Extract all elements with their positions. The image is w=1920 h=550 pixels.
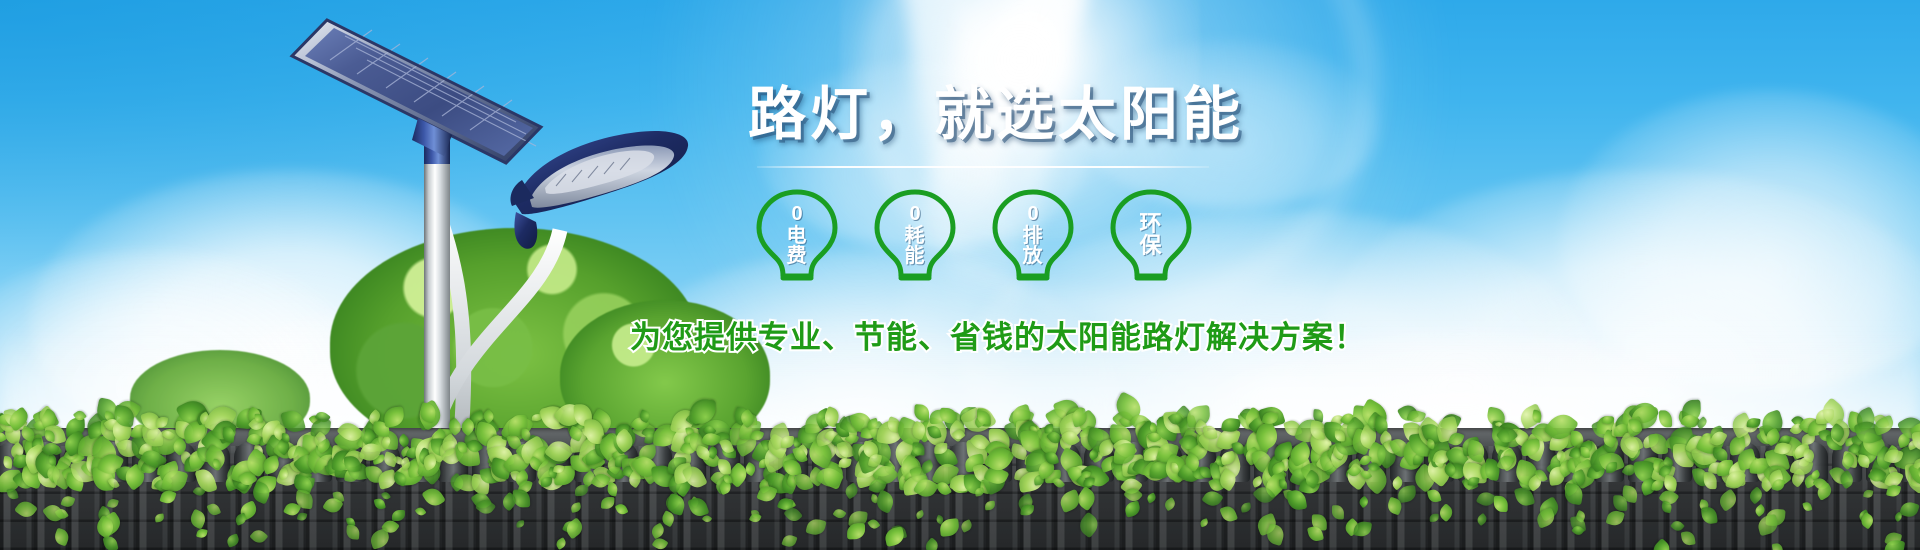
wall-tile-tube	[438, 442, 468, 482]
feature-badge: 0耗能	[866, 188, 964, 286]
badge-zero-value: 0	[1027, 204, 1038, 226]
wall-tile-tube	[1900, 442, 1920, 482]
feature-badge-row: 0电费0耗能0排放环保	[748, 188, 1200, 286]
wall-tile-tube	[1492, 442, 1522, 482]
wall-tile-tube	[0, 442, 26, 482]
wall-tile-tube	[948, 442, 978, 482]
wall-tile-tube	[1594, 442, 1624, 482]
wall-tile-tube	[336, 442, 366, 482]
badge-text-group: 0排放	[1023, 204, 1044, 271]
badge-label: 排	[1023, 226, 1044, 246]
wall-tile-tube	[642, 442, 672, 482]
wall-tile-tube	[846, 442, 876, 482]
wall-tile-tube	[1084, 442, 1114, 482]
wall-tile-tube	[778, 442, 808, 482]
wall-tile-tube	[1016, 442, 1046, 482]
wall-tile-tube	[1696, 442, 1726, 482]
wall-tile-tube	[98, 442, 128, 482]
wall-tile-tube	[30, 442, 60, 482]
solar-panel	[288, 18, 545, 163]
wall-tile-tube	[1390, 442, 1420, 482]
wall-tile-tube	[302, 442, 332, 482]
wall-tile-tube	[404, 442, 434, 482]
wall-tile-tube	[1152, 442, 1182, 482]
wall-tile-tube	[1322, 442, 1352, 482]
badge-text-group: 0耗能	[905, 204, 926, 271]
wall-tile-tube	[608, 442, 638, 482]
badge-label: 保	[1139, 235, 1162, 257]
garden-wall	[0, 428, 1920, 550]
wall-tile-tube	[506, 442, 536, 482]
subtitle-text: 为您提供专业、节能、省钱的太阳能路灯解决方案！	[630, 312, 1336, 357]
feature-badge: 环保	[1102, 188, 1200, 286]
wall-tile-tube	[132, 442, 162, 482]
lamp-head-joint	[514, 212, 537, 249]
solar-street-light-banner: 路灯，就选太阳能 0电费0耗能0排放环保 为您提供专业、节能、省钱的太阳能路灯解…	[0, 0, 1920, 550]
badge-text-group: 环保	[1139, 213, 1162, 262]
feature-badge: 0排放	[984, 188, 1082, 286]
wall-tile-tube	[1288, 442, 1318, 482]
wall-tile-tube	[1798, 442, 1828, 482]
wall-tile-tube	[812, 442, 842, 482]
wall-tile-tube	[1050, 442, 1080, 482]
wall-tile-tube	[540, 442, 570, 482]
wall-tile-tube	[914, 442, 944, 482]
wall-tile-tube	[64, 442, 94, 482]
badge-label: 放	[1023, 246, 1044, 266]
wall-tile-tube	[676, 442, 706, 482]
wall-tile-tube	[880, 442, 910, 482]
badge-zero-value: 0	[791, 204, 802, 226]
led-lamp-head	[510, 131, 688, 249]
wall-tile-tube	[574, 442, 604, 482]
badge-label: 电	[787, 226, 808, 246]
wall-tile-tube	[268, 442, 298, 482]
wall-tile-tube	[166, 442, 196, 482]
wall-tile-tube	[1254, 442, 1284, 482]
feature-badge: 0电费	[748, 188, 846, 286]
wall-tile-tube	[1832, 442, 1862, 482]
page-title: 路灯，就选太阳能	[748, 86, 1218, 144]
badge-zero-value: 0	[909, 204, 920, 226]
wall-tile-tube	[1424, 442, 1454, 482]
wall-tile-tube	[1662, 442, 1692, 482]
wall-tile-tube	[370, 442, 400, 482]
wall-tile-tube	[1118, 442, 1148, 482]
badge-text-group: 0电费	[787, 204, 808, 271]
wall-tile-tube	[710, 442, 740, 482]
wall-tile-tube	[472, 442, 502, 482]
wall-tile-tube	[1458, 442, 1488, 482]
wall-tile-tube	[1186, 442, 1216, 482]
title-divider	[757, 166, 1209, 168]
badge-label: 费	[787, 246, 808, 266]
badge-label: 能	[905, 246, 926, 266]
wall-tile-tube	[1526, 442, 1556, 482]
wall-tile-tube	[1764, 442, 1794, 482]
badge-label: 耗	[905, 226, 926, 246]
wall-tile-tube	[982, 442, 1012, 482]
wall-tile-tube	[744, 442, 774, 482]
wall-tile-tube	[1730, 442, 1760, 482]
wall-tile-tube	[1560, 442, 1590, 482]
wall-tile-tube	[1220, 442, 1250, 482]
wall-tile-tube	[1356, 442, 1386, 482]
wall-tile-tube	[1628, 442, 1658, 482]
wall-tile-tube	[200, 442, 230, 482]
badge-label: 环	[1139, 213, 1162, 235]
wall-tile-tube	[234, 442, 264, 482]
banner-copy: 路灯，就选太阳能 0电费0耗能0排放环保 为您提供专业、节能、省钱的太阳能路灯解…	[748, 86, 1218, 357]
wall-tile-tube	[1866, 442, 1896, 482]
